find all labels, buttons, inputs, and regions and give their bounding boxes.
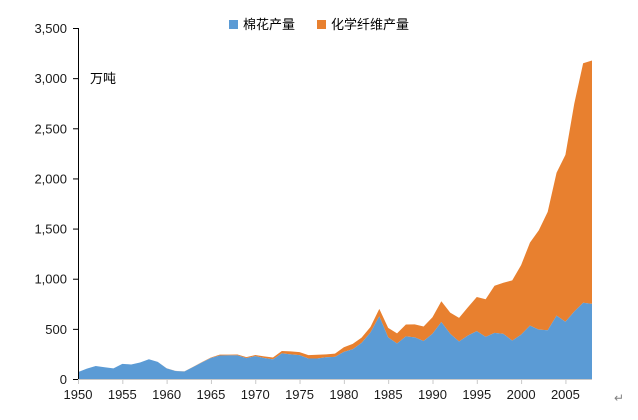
paragraph-mark: ↵: [614, 391, 624, 406]
x-axis-tick-label: 1950: [64, 387, 93, 402]
y-axis-tick-label: 2,000: [34, 171, 67, 186]
chart-plot-area: 05001,0001,5002,0002,5003,0003,500195019…: [0, 0, 638, 420]
x-axis-tick-label: 1985: [374, 387, 403, 402]
x-axis-tick-label: 1960: [152, 387, 181, 402]
x-axis-tick-label: 1970: [241, 387, 270, 402]
y-axis-tick-label: 500: [45, 322, 67, 337]
y-axis-tick-label: 1,000: [34, 272, 67, 287]
area-series-chemical-fiber: [78, 60, 592, 372]
x-axis-tick-label: 1990: [418, 387, 447, 402]
x-axis-tick-label: 1980: [329, 387, 358, 402]
x-axis-tick-label: 2005: [551, 387, 580, 402]
y-axis-tick-label: 1,500: [34, 222, 67, 237]
y-axis-tick-label: 3,500: [34, 21, 67, 36]
y-axis-tick-label: 3,000: [34, 71, 67, 86]
x-axis-tick-label: 1995: [462, 387, 491, 402]
y-axis-unit-label: 万吨: [90, 68, 116, 87]
y-axis-tick-label: 2,500: [34, 121, 67, 136]
x-axis-tick-label: 2000: [507, 387, 536, 402]
area-chart: 棉花产量 化学纤维产量 万吨 05001,0001,5002,0002,5003…: [0, 0, 638, 420]
y-axis-tick-label: 0: [60, 372, 67, 387]
x-axis-tick-label: 1965: [196, 387, 225, 402]
x-axis-tick-label: 1955: [108, 387, 137, 402]
x-axis-tick-label: 1975: [285, 387, 314, 402]
